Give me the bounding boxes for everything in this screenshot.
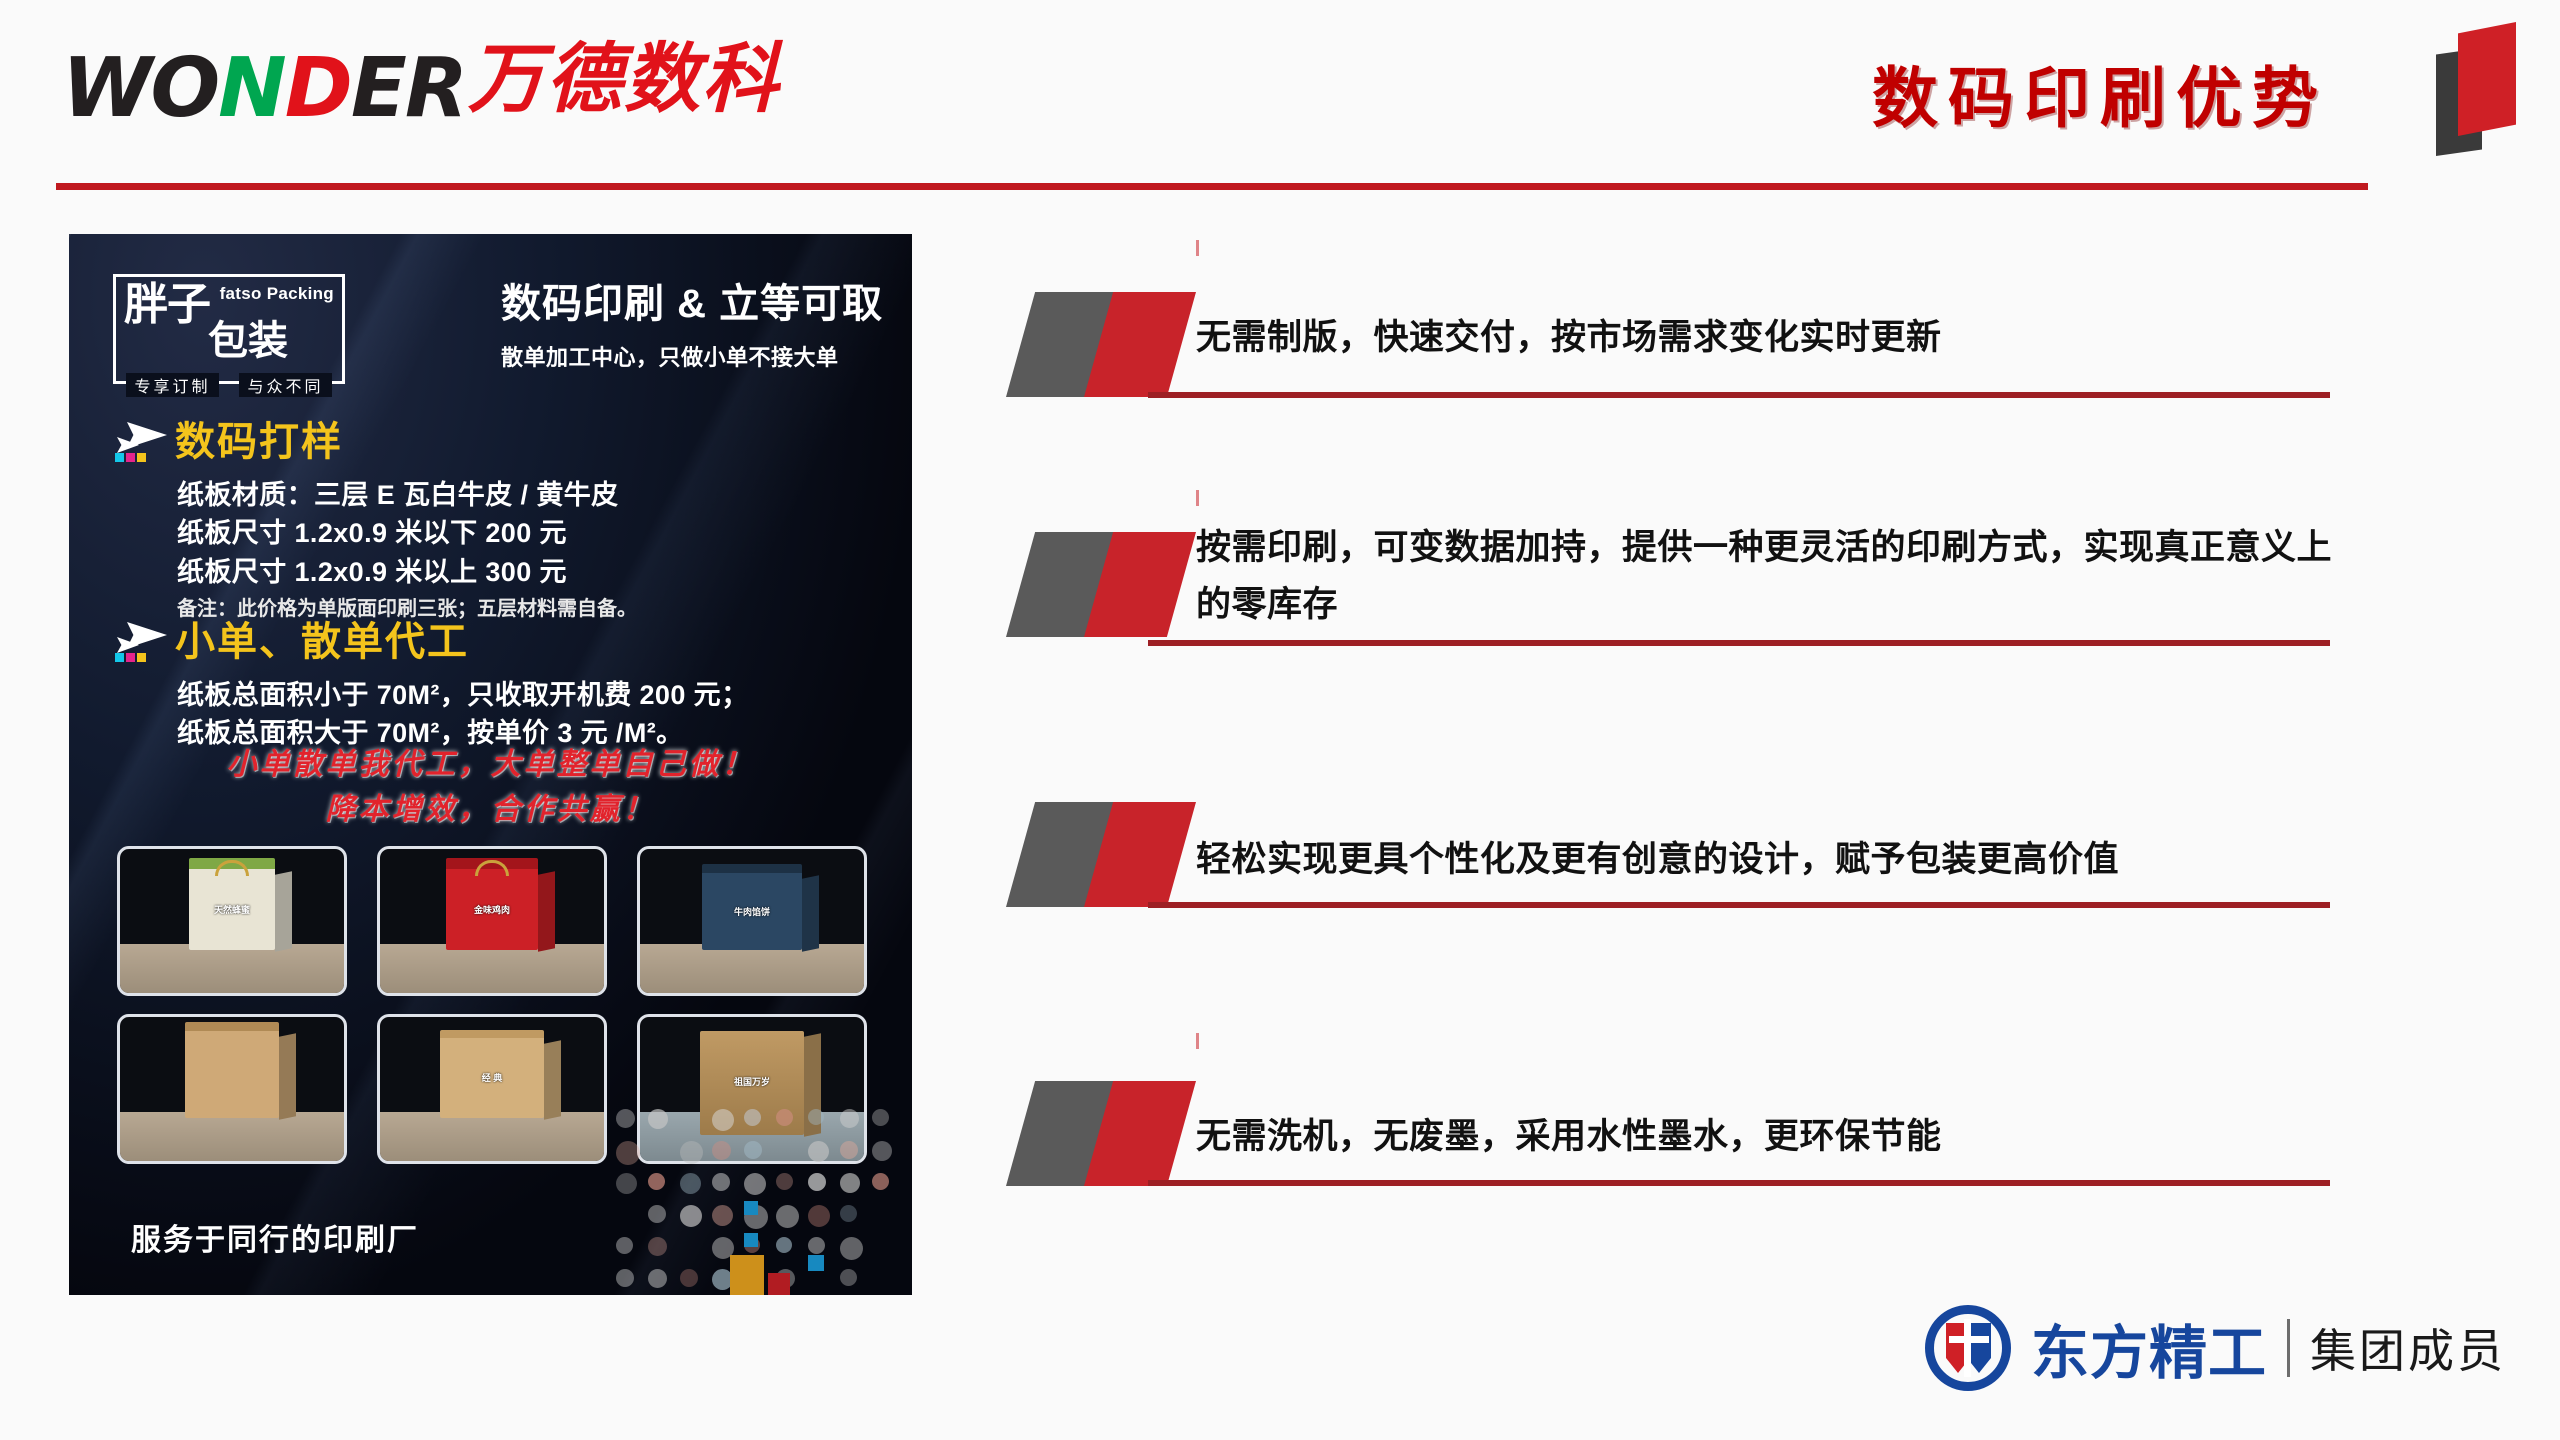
fatso-brand-tagline: 专享订制 与众不同 bbox=[116, 373, 342, 397]
pattern-dot bbox=[648, 1269, 667, 1288]
poster-section-small-order-oem: 小单、散单代工 纸板总面积小于 70M²，只收取开机费 200 元； 纸板总面积… bbox=[113, 622, 748, 753]
pattern-dot bbox=[712, 1109, 734, 1131]
poster-headline: 数码印刷 & 立等可取 bbox=[501, 280, 881, 328]
pattern-dot bbox=[712, 1205, 733, 1226]
pattern-dot bbox=[616, 1173, 637, 1194]
chevron-marks-icon bbox=[1000, 802, 1180, 907]
pattern-dot bbox=[840, 1109, 859, 1128]
fatso-brand-main: 胖子 bbox=[124, 283, 210, 327]
product-label: 金味鸡肉 bbox=[474, 903, 510, 916]
dongfang-jingong-emblem-icon bbox=[1925, 1305, 2011, 1391]
wonder-logo-chinese: 万德数科 bbox=[468, 42, 780, 118]
pattern-dot bbox=[744, 1173, 766, 1195]
pattern-dot bbox=[808, 1205, 830, 1227]
corner-slab-red bbox=[2458, 22, 2516, 136]
pattern-accent bbox=[744, 1233, 758, 1247]
section-title: 数码打样 bbox=[175, 422, 637, 462]
page-title: 数码印刷优势 bbox=[1872, 45, 2328, 141]
underline-rule bbox=[1148, 902, 2330, 908]
pattern-dot bbox=[744, 1109, 761, 1126]
product-label: 经 典 bbox=[482, 1071, 503, 1084]
pattern-dot bbox=[712, 1173, 730, 1191]
pattern-accent bbox=[730, 1255, 764, 1295]
pattern-dot bbox=[808, 1237, 825, 1254]
pattern-dot bbox=[776, 1205, 799, 1228]
list-item: 按需印刷，可变数据加持，提供一种更灵活的印刷方式，实现真正意义上的零库存 bbox=[1000, 480, 2360, 780]
section-line: 纸板尺寸 1.2x0.9 米以上 300 元 bbox=[177, 553, 637, 591]
advantages-list: 无需制版，快速交付，按市场需求变化实时更新 按需印刷，可变数据加持，提供一种更灵… bbox=[1000, 240, 2360, 1270]
member-label: 集团成员 bbox=[2310, 1315, 2506, 1381]
underline-rule bbox=[1148, 640, 2330, 646]
chevron-marks-icon bbox=[1000, 532, 1180, 637]
pattern-dot bbox=[616, 1141, 640, 1165]
arrow-bullet-icon bbox=[113, 620, 169, 664]
header-divider bbox=[56, 183, 2368, 190]
product-photo bbox=[117, 1014, 347, 1164]
pattern-dot bbox=[776, 1173, 793, 1190]
poster-slogan-line2: 降本增效，合作共赢！ bbox=[69, 787, 912, 832]
product-label: 天然蜂蜜 bbox=[214, 903, 250, 916]
poster-footer-text: 服务于同行的印刷厂 bbox=[131, 1215, 419, 1259]
promo-poster-image: 胖子 fatso Packing 包装 专享订制 与众不同 数码印刷 & 立等可… bbox=[69, 234, 912, 1295]
wonder-logo-latin: WONDER bbox=[62, 48, 466, 130]
pattern-dot bbox=[776, 1237, 792, 1253]
pattern-dot bbox=[840, 1141, 858, 1159]
tick-mark bbox=[1196, 1033, 1199, 1049]
product-label: 祖国万岁 bbox=[734, 1075, 770, 1088]
product-photo: 天然蜂蜜 bbox=[117, 846, 347, 996]
advantage-text: 无需制版，快速交付，按市场需求变化实时更新 bbox=[1196, 240, 2360, 375]
product-photo: 金味鸡肉 bbox=[377, 846, 607, 996]
section-note: 备注：此价格为单版面印刷三张；五层材料需自备。 bbox=[177, 595, 637, 623]
pattern-dot bbox=[872, 1173, 889, 1190]
pattern-dot bbox=[808, 1141, 829, 1162]
fatso-brand-sub: 包装 bbox=[208, 321, 288, 361]
emblem-bar-vertical bbox=[1964, 1319, 1971, 1377]
fatso-tag-left: 专享订制 bbox=[126, 373, 218, 397]
logo-n: N bbox=[218, 41, 285, 136]
pattern-dot bbox=[840, 1173, 860, 1193]
corner-decoration-mark bbox=[2420, 8, 2538, 158]
pattern-accent bbox=[744, 1201, 758, 1215]
logo-wo: WO bbox=[62, 41, 218, 136]
pattern-dot bbox=[840, 1237, 863, 1260]
advantage-text: 轻松实现更具个性化及更有创意的设计，赋予包装更高价值 bbox=[1196, 780, 2360, 897]
pattern-dot bbox=[616, 1237, 633, 1254]
dot-pattern-decoration bbox=[612, 1105, 912, 1295]
pattern-dot bbox=[840, 1269, 857, 1286]
pattern-dot bbox=[680, 1173, 701, 1194]
pattern-dot bbox=[872, 1141, 892, 1161]
pattern-dot bbox=[744, 1141, 762, 1159]
arrow-bullet-icon bbox=[113, 420, 169, 464]
page-header: WONDER 万德数科 数码印刷优势 bbox=[0, 0, 2560, 200]
fatso-brand-en: fatso Packing bbox=[220, 284, 334, 304]
logo-er: ER bbox=[351, 41, 466, 136]
poster-subheadline: 散单加工中心，只做小单不接大单 bbox=[501, 340, 881, 372]
pattern-dot bbox=[648, 1237, 667, 1256]
pattern-dot bbox=[808, 1109, 824, 1125]
company-name: 东方精工 bbox=[2031, 1306, 2267, 1390]
product-photo: 牛肉馅饼 bbox=[637, 846, 867, 996]
section-line: 纸板尺寸 1.2x0.9 米以下 200 元 bbox=[177, 514, 637, 552]
fatso-tag-right: 与众不同 bbox=[239, 373, 331, 397]
fatso-brand-box: 胖子 fatso Packing 包装 专享订制 与众不同 bbox=[113, 274, 345, 384]
list-item: 无需洗机，无废墨，采用水性墨水，更环保节能 bbox=[1000, 1025, 2360, 1270]
underline-rule bbox=[1148, 392, 2330, 398]
list-item: 轻松实现更具个性化及更有创意的设计，赋予包装更高价值 bbox=[1000, 780, 2360, 1025]
pattern-dot bbox=[680, 1269, 698, 1287]
product-photo: 经 典 bbox=[377, 1014, 607, 1164]
pattern-dot bbox=[808, 1173, 826, 1191]
tick-mark bbox=[1196, 490, 1199, 506]
pattern-dot bbox=[776, 1109, 793, 1126]
chevron-marks-icon bbox=[1000, 292, 1180, 397]
section-title: 小单、散单代工 bbox=[175, 622, 748, 662]
section-line: 纸板材质：三层 E 瓦白牛皮 / 黄牛皮 bbox=[177, 476, 637, 514]
tick-mark bbox=[1196, 240, 1199, 256]
pattern-accent bbox=[808, 1255, 824, 1271]
pattern-dot bbox=[680, 1141, 703, 1164]
pattern-dot bbox=[616, 1269, 634, 1287]
pattern-dot bbox=[616, 1109, 635, 1128]
pattern-accent bbox=[768, 1273, 790, 1295]
footer-divider bbox=[2287, 1319, 2290, 1377]
group-member-logo: 东方精工 集团成员 bbox=[1925, 1305, 2506, 1391]
pattern-dot bbox=[872, 1109, 889, 1126]
pattern-dot bbox=[840, 1205, 857, 1222]
list-item: 无需制版，快速交付，按市场需求变化实时更新 bbox=[1000, 240, 2360, 480]
pattern-dot bbox=[648, 1205, 666, 1223]
product-label: 牛肉馅饼 bbox=[734, 905, 770, 918]
pattern-dot bbox=[712, 1141, 731, 1160]
underline-rule bbox=[1148, 1180, 2330, 1186]
pattern-dot bbox=[680, 1205, 702, 1227]
advantage-text: 无需洗机，无废墨，采用水性墨水，更环保节能 bbox=[1196, 1025, 2360, 1174]
poster-headline-block: 数码印刷 & 立等可取 散单加工中心，只做小单不接大单 bbox=[501, 280, 881, 372]
advantage-text: 按需印刷，可变数据加持，提供一种更灵活的印刷方式，实现真正意义上的零库存 bbox=[1196, 480, 2346, 641]
poster-slogan: 小单散单我代工，大单整单自己做！ 降本增效，合作共赢！ bbox=[69, 742, 912, 832]
poster-slogan-line1: 小单散单我代工，大单整单自己做！ bbox=[69, 742, 912, 787]
pattern-dot bbox=[648, 1109, 668, 1129]
chevron-marks-icon bbox=[1000, 1081, 1180, 1186]
logo-d: D bbox=[285, 41, 351, 136]
section-line: 纸板总面积小于 70M²，只收取开机费 200 元； bbox=[177, 676, 748, 714]
pattern-dot bbox=[648, 1173, 665, 1190]
poster-section-digital-proofing: 数码打样 纸板材质：三层 E 瓦白牛皮 / 黄牛皮 纸板尺寸 1.2x0.9 米… bbox=[113, 422, 637, 623]
